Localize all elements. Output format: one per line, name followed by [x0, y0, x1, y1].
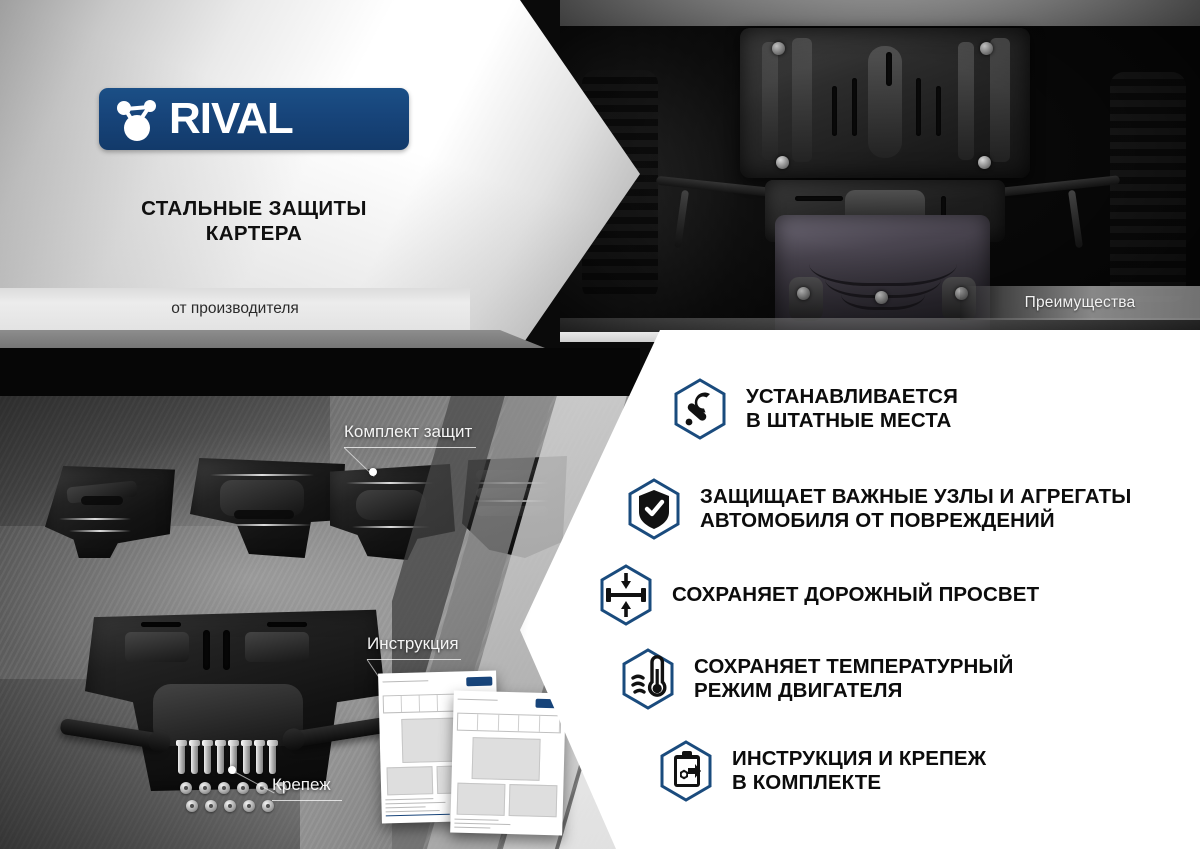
advantage-2-line2: АВТОМОБИЛЯ ОТ ПОВРЕЖДЕНИЙ — [700, 509, 1131, 533]
advantage-1-line1: УСТАНАВЛИВАЕТСЯ — [746, 385, 958, 408]
advantage-item-1: УСТАНАВЛИВАЕТСЯ В ШТАТНЫЕ МЕСТА — [672, 378, 958, 440]
advantage-text-1: УСТАНАВЛИВАЕТСЯ В ШТАТНЫЕ МЕСТА — [746, 385, 958, 433]
advantage-item-3: СОХРАНЯЕТ ДОРОЖНЫЙ ПРОСВЕТ — [598, 564, 1039, 626]
advantage-item-4: СОХРАНЯЕТ ТЕМПЕРАТУРНЫЙ РЕЖИМ ДВИГАТЕЛЯ — [620, 648, 1013, 710]
advantage-item-2: ЗАЩИЩАЕТ ВАЖНЫЕ УЗЛЫ И АГРЕГАТЫ АВТОМОБИ… — [626, 478, 1131, 540]
advantage-item-5: ИНСТРУКЦИЯ И КРЕПЕЖ В КОМПЛЕКТЕ — [658, 740, 986, 802]
advantage-text-4: СОХРАНЯЕТ ТЕМПЕРАТУРНЫЙ РЕЖИМ ДВИГАТЕЛЯ — [694, 655, 1013, 703]
advantage-4-line2: РЕЖИМ ДВИГАТЕЛЯ — [694, 679, 1013, 703]
wrench-icon — [672, 378, 728, 440]
advantages-list: УСТАНАВЛИВАЕТСЯ В ШТАТНЫЕ МЕСТА ЗАЩИЩАЕТ… — [0, 0, 1200, 849]
advantage-1-line2: В ШТАТНЫЕ МЕСТА — [746, 409, 958, 433]
clipboard-bolt-icon — [658, 740, 714, 802]
advantage-5-line1: ИНСТРУКЦИЯ И КРЕПЕЖ — [732, 747, 986, 770]
advantage-2-line1: ЗАЩИЩАЕТ ВАЖНЫЕ УЗЛЫ И АГРЕГАТЫ — [700, 485, 1131, 508]
shield-check-icon — [626, 478, 682, 540]
advantage-text-3: СОХРАНЯЕТ ДОРОЖНЫЙ ПРОСВЕТ — [672, 583, 1039, 607]
infographic-canvas: Преимущества RIVAL СТАЛЬНЫЕ ЗАЩИТЫ КАРТЕ… — [0, 0, 1200, 849]
thermometer-icon — [620, 648, 676, 710]
advantage-text-2: ЗАЩИЩАЕТ ВАЖНЫЕ УЗЛЫ И АГРЕГАТЫ АВТОМОБИ… — [700, 485, 1131, 533]
advantage-3-line1: СОХРАНЯЕТ ДОРОЖНЫЙ ПРОСВЕТ — [672, 583, 1039, 606]
advantage-4-line1: СОХРАНЯЕТ ТЕМПЕРАТУРНЫЙ — [694, 655, 1013, 678]
advantage-text-5: ИНСТРУКЦИЯ И КРЕПЕЖ В КОМПЛЕКТЕ — [732, 747, 986, 795]
advantage-5-line2: В КОМПЛЕКТЕ — [732, 771, 986, 795]
ground-clearance-icon — [598, 564, 654, 626]
